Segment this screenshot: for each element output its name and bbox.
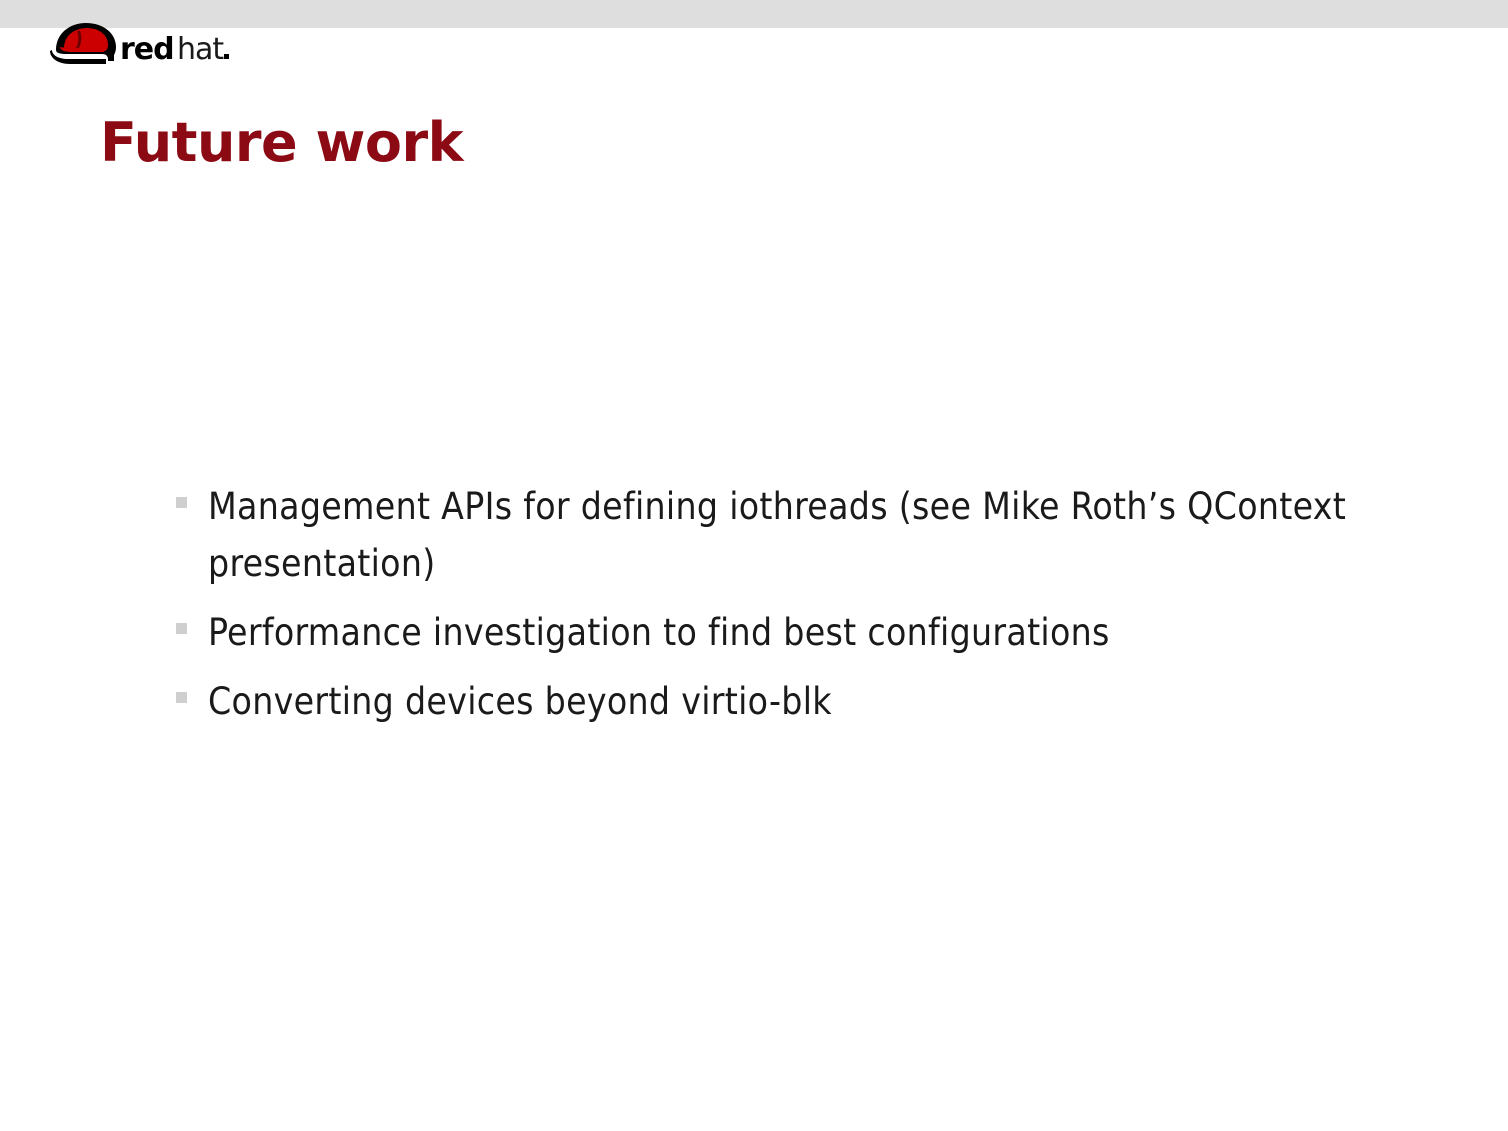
- bullet-list: Management APIs for defining iothreads (…: [176, 478, 1356, 742]
- svg-text:red: red: [120, 32, 174, 67]
- presentation-slide: red hat Future work Management APIs for …: [0, 0, 1508, 1131]
- page-title: Future work: [100, 116, 463, 170]
- list-item: Converting devices beyond virtio-blk: [176, 673, 1356, 730]
- square-bullet-icon: [176, 692, 187, 703]
- list-item-label: Management APIs for defining iothreads (…: [208, 485, 1346, 585]
- list-item-label: Converting devices beyond virtio-blk: [208, 680, 832, 723]
- square-bullet-icon: [176, 497, 187, 508]
- list-item: Management APIs for defining iothreads (…: [176, 478, 1356, 592]
- redhat-shadowman-logo-icon: red hat: [46, 14, 246, 68]
- list-item-label: Performance investigation to find best c…: [208, 611, 1110, 654]
- list-item: Performance investigation to find best c…: [176, 604, 1356, 661]
- svg-text:hat: hat: [177, 32, 224, 67]
- square-bullet-icon: [176, 623, 187, 634]
